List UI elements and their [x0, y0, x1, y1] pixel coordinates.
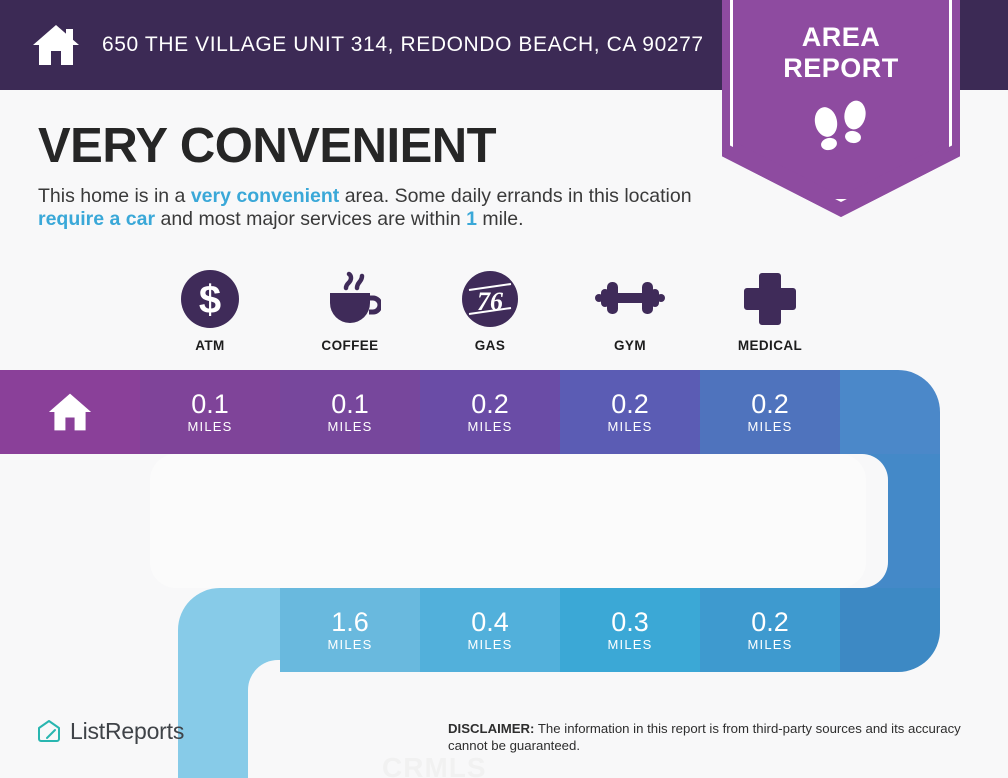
dumbbell-icon [594, 268, 666, 330]
badge-title-line1: AREA [722, 22, 960, 53]
home-icon [32, 21, 80, 69]
category-medical: MEDICAL [700, 268, 840, 353]
dollar-circle-icon: $ [180, 268, 240, 330]
snake-tail-notch [248, 660, 368, 778]
category-label: GYM [614, 338, 646, 353]
summary-highlight-1: very convenient [191, 185, 339, 207]
distance-segment-pharmacy: 0.2 MILES [700, 588, 840, 672]
distance-unit: MILES [187, 419, 232, 434]
summary-text: This home is in a very convenient area. … [38, 185, 718, 231]
distance-value: 0.4 [471, 608, 509, 636]
category-gas: 76 GAS [420, 268, 560, 353]
distance-value: 0.2 [611, 390, 649, 418]
disclaimer-label: DISCLAIMER: [448, 721, 534, 736]
category-gym: GYM [560, 268, 700, 353]
svg-text:$: $ [199, 278, 221, 322]
badge-title-line2: REPORT [722, 53, 960, 84]
area-report-page: 650 THE VILLAGE UNIT 314, REDONDO BEACH,… [0, 0, 1008, 778]
gas-76-icon: 76 [461, 268, 519, 330]
distance-value: 0.1 [331, 390, 369, 418]
summary-part-3: and most major services are within [155, 208, 466, 230]
category-atm: $ ATM [140, 268, 280, 353]
footprints-icon [800, 100, 880, 162]
distance-unit: MILES [327, 637, 372, 652]
origin-home-segment [0, 370, 140, 454]
snake-uturn-bottom [840, 588, 940, 672]
distance-segment-cleaners: 0.4 MILES [420, 588, 560, 672]
distance-value: 0.2 [751, 390, 789, 418]
category-label: MEDICAL [738, 338, 802, 353]
category-icon-row-1: $ ATM COFFEE 76 [140, 268, 840, 353]
distance-segment-movie-theater: 1.6 MILES [280, 588, 420, 672]
summary-highlight-3: 1 [466, 208, 477, 230]
distance-segment-medical: 0.2 MILES [700, 370, 840, 454]
listreports-house-icon [36, 719, 62, 745]
category-label: GAS [475, 338, 505, 353]
summary-part-2: area. Some daily errands in this locatio… [339, 185, 691, 207]
header-address: 650 THE VILLAGE UNIT 314, REDONDO BEACH,… [102, 33, 704, 57]
distance-segment-atm: 0.1 MILES [140, 370, 280, 454]
category-label: COFFEE [321, 338, 378, 353]
distance-segment-gym: 0.2 MILES [560, 370, 700, 454]
summary-part-4: mile. [477, 208, 524, 230]
distance-value: 1.6 [331, 608, 369, 636]
summary-part-1: This home is in a [38, 185, 191, 207]
home-icon [48, 390, 92, 434]
distance-unit: MILES [747, 419, 792, 434]
crmls-watermark: CRMLS [382, 752, 487, 778]
listreports-wordmark: ListReports [70, 718, 184, 745]
distance-unit: MILES [467, 419, 512, 434]
badge-title: AREA REPORT [722, 22, 960, 84]
medical-cross-icon [741, 268, 799, 330]
distance-value: 0.2 [751, 608, 789, 636]
snake-inner-panel [150, 454, 866, 588]
distance-segment-coffee: 0.1 MILES [280, 370, 420, 454]
distance-value: 0.3 [611, 608, 649, 636]
category-label: ATM [195, 338, 224, 353]
distance-bar-row-1: 0.1 MILES 0.1 MILES 0.2 MILES 0.2 MILES … [0, 370, 840, 454]
coffee-cup-icon [319, 268, 381, 330]
distance-snake: 0.1 MILES 0.1 MILES 0.2 MILES 0.2 MILES … [0, 370, 1008, 778]
distance-segment-gas: 0.2 MILES [420, 370, 560, 454]
listreports-logo: ListReports [36, 718, 184, 745]
page-title: VERY CONVENIENT [38, 118, 496, 174]
distance-unit: MILES [607, 637, 652, 652]
distance-segment-groceries: 0.3 MILES [560, 588, 700, 672]
distance-unit: MILES [607, 419, 652, 434]
summary-highlight-2: require a car [38, 208, 155, 230]
distance-unit: MILES [327, 419, 372, 434]
category-coffee: COFFEE [280, 268, 420, 353]
distance-unit: MILES [467, 637, 512, 652]
snake-uturn-top [840, 370, 940, 454]
disclaimer: DISCLAIMER: The information in this repo… [448, 720, 968, 754]
distance-unit: MILES [747, 637, 792, 652]
distance-value: 0.2 [471, 390, 509, 418]
distance-bar-row-2: 1.6 MILES 0.4 MILES 0.3 MILES 0.2 MILES [280, 588, 840, 672]
distance-value: 0.1 [191, 390, 229, 418]
